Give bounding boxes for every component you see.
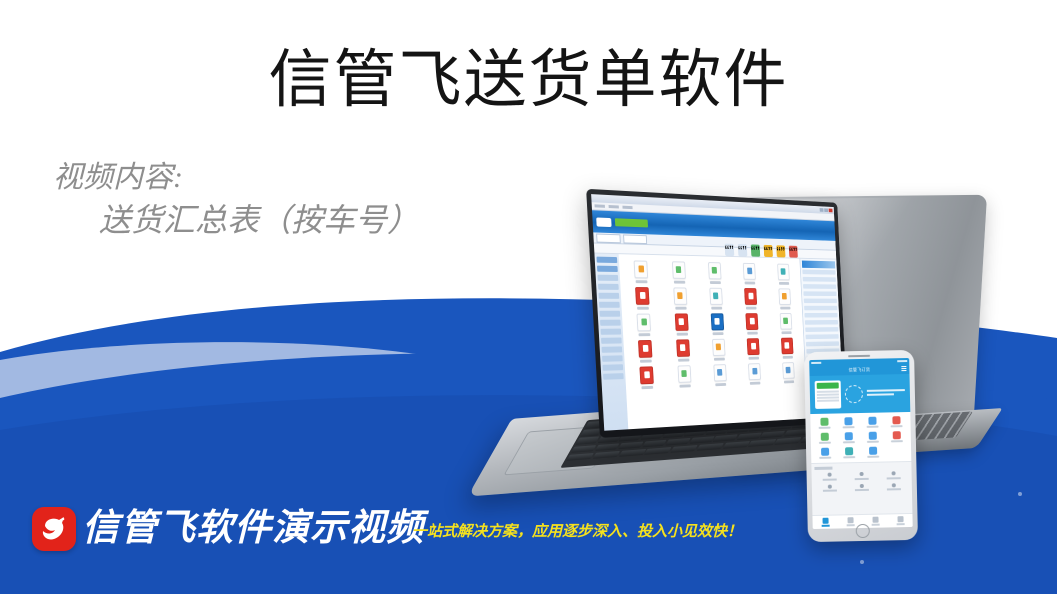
module-icon[interactable] [738,363,771,385]
sidebar-item[interactable] [603,373,624,380]
subtitle-label: 视频内容: [53,158,513,198]
sidebar-item[interactable] [600,329,621,335]
right-panel-item[interactable] [804,306,837,311]
stat-item [879,471,908,479]
xinguanfei-bird-logo-icon [32,507,76,551]
module-icon[interactable] [733,263,766,285]
mobile-hero-banner [810,374,911,414]
stat-item [879,483,908,491]
mobile-module-item[interactable] [837,417,859,428]
tab-item[interactable] [596,233,621,243]
mobile-module-item[interactable] [814,433,836,444]
mobile-app-title: 信管飞订货 [849,366,871,372]
app-toolbar[interactable] [725,244,798,258]
module-icon[interactable] [734,288,767,310]
right-panel-item[interactable] [804,313,837,318]
menu-item[interactable] [622,206,632,209]
module-icon[interactable] [702,339,736,361]
module-icon[interactable] [703,364,737,387]
module-icon[interactable] [737,338,770,360]
module-icon[interactable] [665,339,700,362]
sidebar-item[interactable] [600,320,621,326]
footer-brand-name: 信管飞软件演示视频 [82,505,424,551]
sidebar-item[interactable] [598,293,619,299]
module-icon[interactable] [770,313,802,334]
module-icon[interactable] [664,313,699,335]
right-panel-item[interactable] [806,334,839,339]
app-logo-icon [596,217,611,227]
module-icon[interactable] [627,340,664,363]
right-panel-item[interactable] [803,277,836,282]
module-icon[interactable] [699,288,733,310]
maximize-icon[interactable] [824,208,828,212]
presentation-slide: 信管飞送货单软件 视频内容: 送货汇总表（按车号） [0,0,1057,594]
mobile-module-item[interactable] [862,447,884,458]
module-icon[interactable] [772,362,804,384]
status-icons [897,360,907,362]
toolbar-button[interactable] [789,246,798,258]
sidebar-item[interactable] [598,284,619,290]
sidebar-item[interactable] [597,266,618,272]
right-panel-item[interactable] [806,341,839,346]
app-main-canvas [619,254,808,431]
mobile-module-item[interactable] [813,418,835,429]
module-icon[interactable] [736,313,769,335]
close-icon[interactable] [829,209,833,213]
module-icon[interactable] [698,262,732,284]
footer-brand-bar: 信管飞软件演示视频 一站式解决方案，应用逐步深入、投入小见效快！ [0,500,1057,594]
stats-row [815,483,909,492]
hero-text-lines [867,389,905,398]
toolbar-button[interactable] [776,245,785,257]
mobile-module-item[interactable] [814,448,836,459]
right-panel-header [802,261,835,269]
subtitle-content: 送货汇总表（按车号） [53,198,513,242]
sidebar-item[interactable] [599,311,620,317]
toolbar-button[interactable] [725,244,735,256]
module-icon[interactable] [629,366,666,390]
hamburger-icon[interactable] [901,366,906,371]
right-panel-item[interactable] [803,284,836,289]
status-time [811,361,821,363]
sidebar-item[interactable] [601,337,622,343]
menu-item[interactable] [609,205,619,208]
toolbar-button[interactable] [738,244,748,256]
toolbar-button[interactable] [764,245,773,257]
toolbar-button[interactable] [751,244,760,256]
mobile-module-item[interactable] [886,446,908,457]
sidebar-item[interactable] [597,275,618,281]
module-icon[interactable] [771,337,803,359]
right-panel-item[interactable] [803,291,836,296]
hero-card-icon [815,380,842,409]
footer-tagline: 一站式解决方案，应用逐步深入、投入小见效快！ [412,521,742,543]
stats-row [815,471,909,480]
right-panel-item[interactable] [805,320,838,325]
module-icon[interactable] [767,263,799,285]
subtitle-block: 视频内容: 送货汇总表（按车号） [53,158,513,242]
sidebar-item[interactable] [602,364,623,371]
stat-item [815,472,844,480]
hero-ring-icon [845,385,863,403]
mobile-module-item[interactable] [886,431,908,442]
module-icon[interactable] [700,313,734,335]
sidebar-item[interactable] [596,257,617,263]
module-icon[interactable] [667,365,702,388]
module-icon[interactable] [662,287,697,309]
slide-title: 信管飞送货单软件 [0,44,1057,116]
mobile-module-item[interactable] [862,432,884,443]
sidebar-item[interactable] [599,302,620,308]
module-icon[interactable] [623,260,660,283]
module-icon[interactable] [661,261,696,284]
stat-item [815,484,844,492]
module-icon[interactable] [769,288,801,309]
stat-item [847,483,876,491]
mobile-module-item[interactable] [861,417,883,428]
phone-earpiece [848,355,870,357]
mobile-module-grid [810,412,911,463]
minimize-icon[interactable] [820,208,824,212]
module-icon[interactable] [626,314,663,337]
module-icon-grid [623,258,805,390]
mobile-module-item[interactable] [838,432,860,443]
mobile-module-item[interactable] [838,447,860,458]
sidebar-item[interactable] [602,355,623,361]
right-panel-item[interactable] [805,327,838,332]
module-icon[interactable] [624,287,661,310]
menu-item[interactable] [595,204,605,208]
mobile-app-header: 信管飞订货 [809,363,909,376]
right-panel-item[interactable] [804,299,837,304]
device-mockup-group: 信管飞订货 [470,190,1057,520]
app-brand-wordmark [615,218,648,227]
stats-section-title [814,467,832,470]
stat-item [847,472,876,480]
sidebar-item[interactable] [601,346,622,352]
mobile-module-item[interactable] [885,416,907,427]
right-panel-item[interactable] [802,270,835,275]
tab-item[interactable] [623,234,647,244]
